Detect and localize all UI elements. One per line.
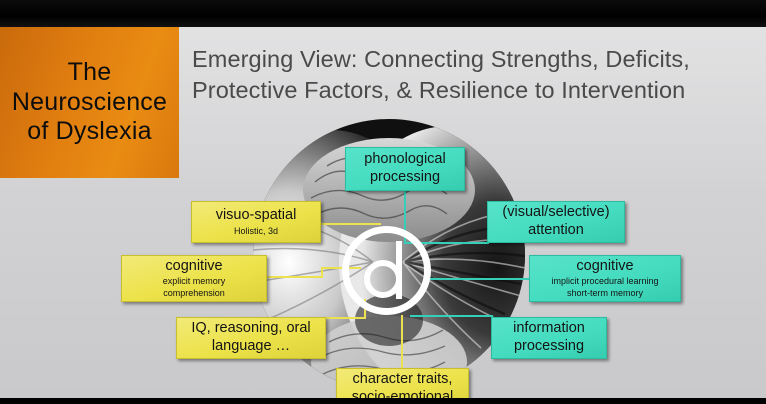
node-iq-reasoning[interactable]: IQ, reasoning, oral language …: [176, 317, 326, 359]
slide-screen: The Neuroscience of Dyslexia Emerging Vi…: [0, 0, 766, 404]
title-block: The Neuroscience of Dyslexia: [0, 27, 179, 178]
node-label-main2: attention: [528, 222, 584, 240]
node-label-main: cognitive: [576, 258, 633, 276]
slide-canvas: The Neuroscience of Dyslexia Emerging Vi…: [0, 27, 766, 398]
node-label-main2: processing: [514, 338, 584, 356]
node-label-main: character traits,: [353, 371, 453, 389]
letterbox-bottom: [0, 398, 766, 404]
node-phonological-processing[interactable]: phonological processing: [345, 147, 465, 191]
node-label-sub2: comprehension: [163, 288, 225, 299]
node-label-sub: implicit procedural learning: [551, 276, 658, 287]
letterbox-top: [0, 0, 766, 27]
connector-cognitive-left-a: [265, 276, 323, 278]
node-cognitive-right[interactable]: cognitive implicit procedural learning s…: [529, 255, 681, 302]
node-label-main2: socio-emotional: [352, 389, 454, 398]
heading-line-2: Protective Factors, & Resilience to Inte…: [192, 75, 752, 106]
node-label-main: information: [513, 320, 585, 338]
node-label-sub2: short-term memory: [567, 288, 643, 299]
node-label-main: phonological: [364, 151, 445, 169]
connector-cognitive-left-v: [321, 267, 323, 277]
title-line-1: The: [12, 58, 167, 88]
node-label-main: visuo-spatial: [216, 207, 297, 225]
node-label-main2: processing: [370, 169, 440, 187]
node-label-sub: Holistic, 3d: [234, 226, 278, 237]
node-label-sub: explicit memory: [163, 276, 226, 287]
node-label-main: cognitive: [165, 258, 222, 276]
node-visuo-spatial[interactable]: visuo-spatial Holistic, 3d: [191, 201, 321, 243]
node-label-main: (visual/selective): [502, 204, 609, 222]
node-label-main2: language …: [212, 338, 290, 356]
connector-cognitive-right: [430, 278, 531, 280]
node-visual-selective-attention[interactable]: (visual/selective) attention: [487, 201, 625, 243]
slide-heading: Emerging View: Connecting Strengths, Def…: [192, 44, 752, 107]
node-information-processing[interactable]: information processing: [491, 317, 607, 359]
title-line-2: Neuroscience: [12, 88, 167, 118]
node-character-traits[interactable]: character traits, socio-emotional: [336, 368, 469, 398]
title-line-3: of Dyslexia: [12, 117, 167, 147]
node-label-main: IQ, reasoning, oral: [191, 320, 310, 338]
title-block-text: The Neuroscience of Dyslexia: [6, 58, 173, 147]
node-cognitive-left[interactable]: cognitive explicit memory comprehension: [121, 255, 267, 302]
heading-line-1: Emerging View: Connecting Strengths, Def…: [192, 44, 752, 75]
connector-character-traits: [401, 315, 403, 370]
center-logo: [339, 223, 434, 318]
